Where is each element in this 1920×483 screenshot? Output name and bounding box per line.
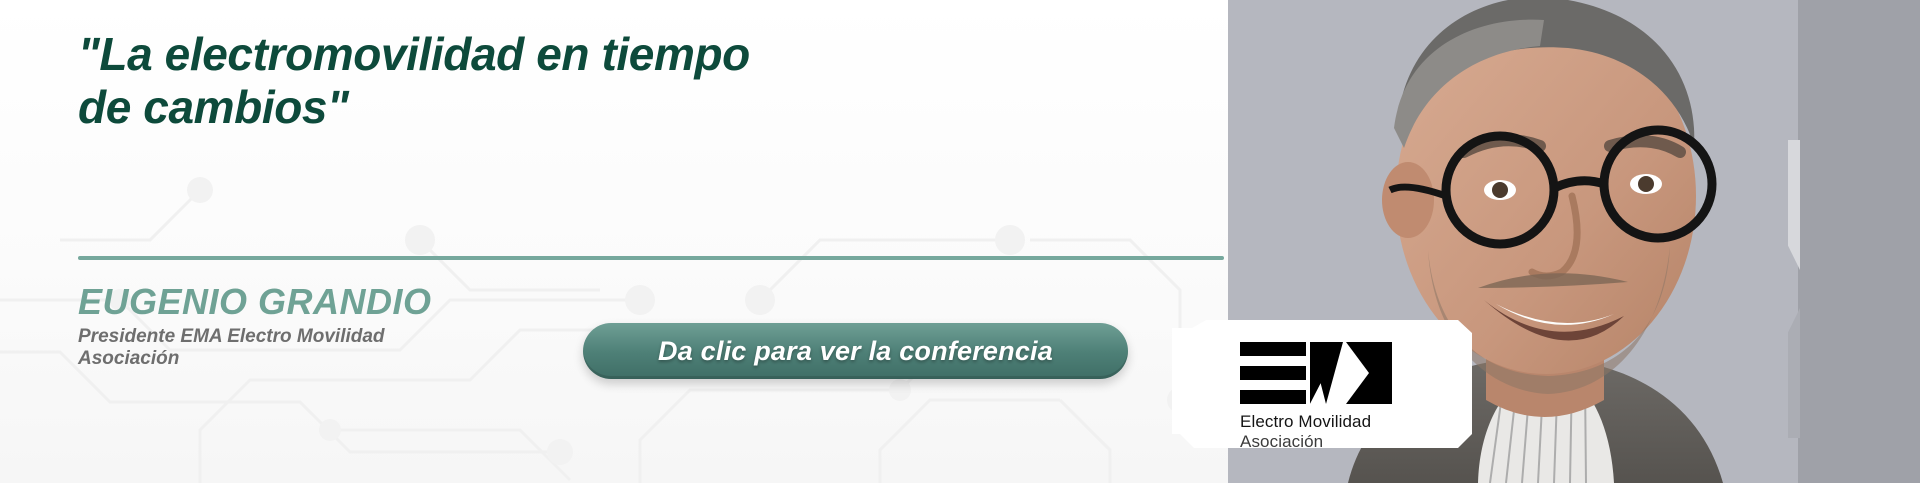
- logo-text-line1: Electro Movilidad: [1240, 412, 1392, 432]
- left-content-panel: "La electromovilidad en tiempo de cambio…: [0, 0, 1228, 483]
- speaker-name: EUGENIO GRANDIO: [78, 283, 548, 322]
- banner-headline: "La electromovilidad en tiempo de cambio…: [78, 28, 978, 135]
- speaker-info: EUGENIO GRANDIO Presidente EMA Electro M…: [78, 283, 548, 371]
- ema-logo-icon: [1240, 342, 1392, 404]
- conference-banner: "La electromovilidad en tiempo de cambio…: [0, 0, 1920, 483]
- speaker-role: Presidente EMA Electro Movilidad Asociac…: [78, 326, 548, 371]
- ema-logo-card: Electro Movilidad Asociación México: [1172, 320, 1472, 448]
- watch-conference-button[interactable]: Da clic para ver la conferencia: [583, 323, 1128, 379]
- photo-background-right: [1798, 0, 1920, 483]
- section-divider: [78, 256, 1224, 260]
